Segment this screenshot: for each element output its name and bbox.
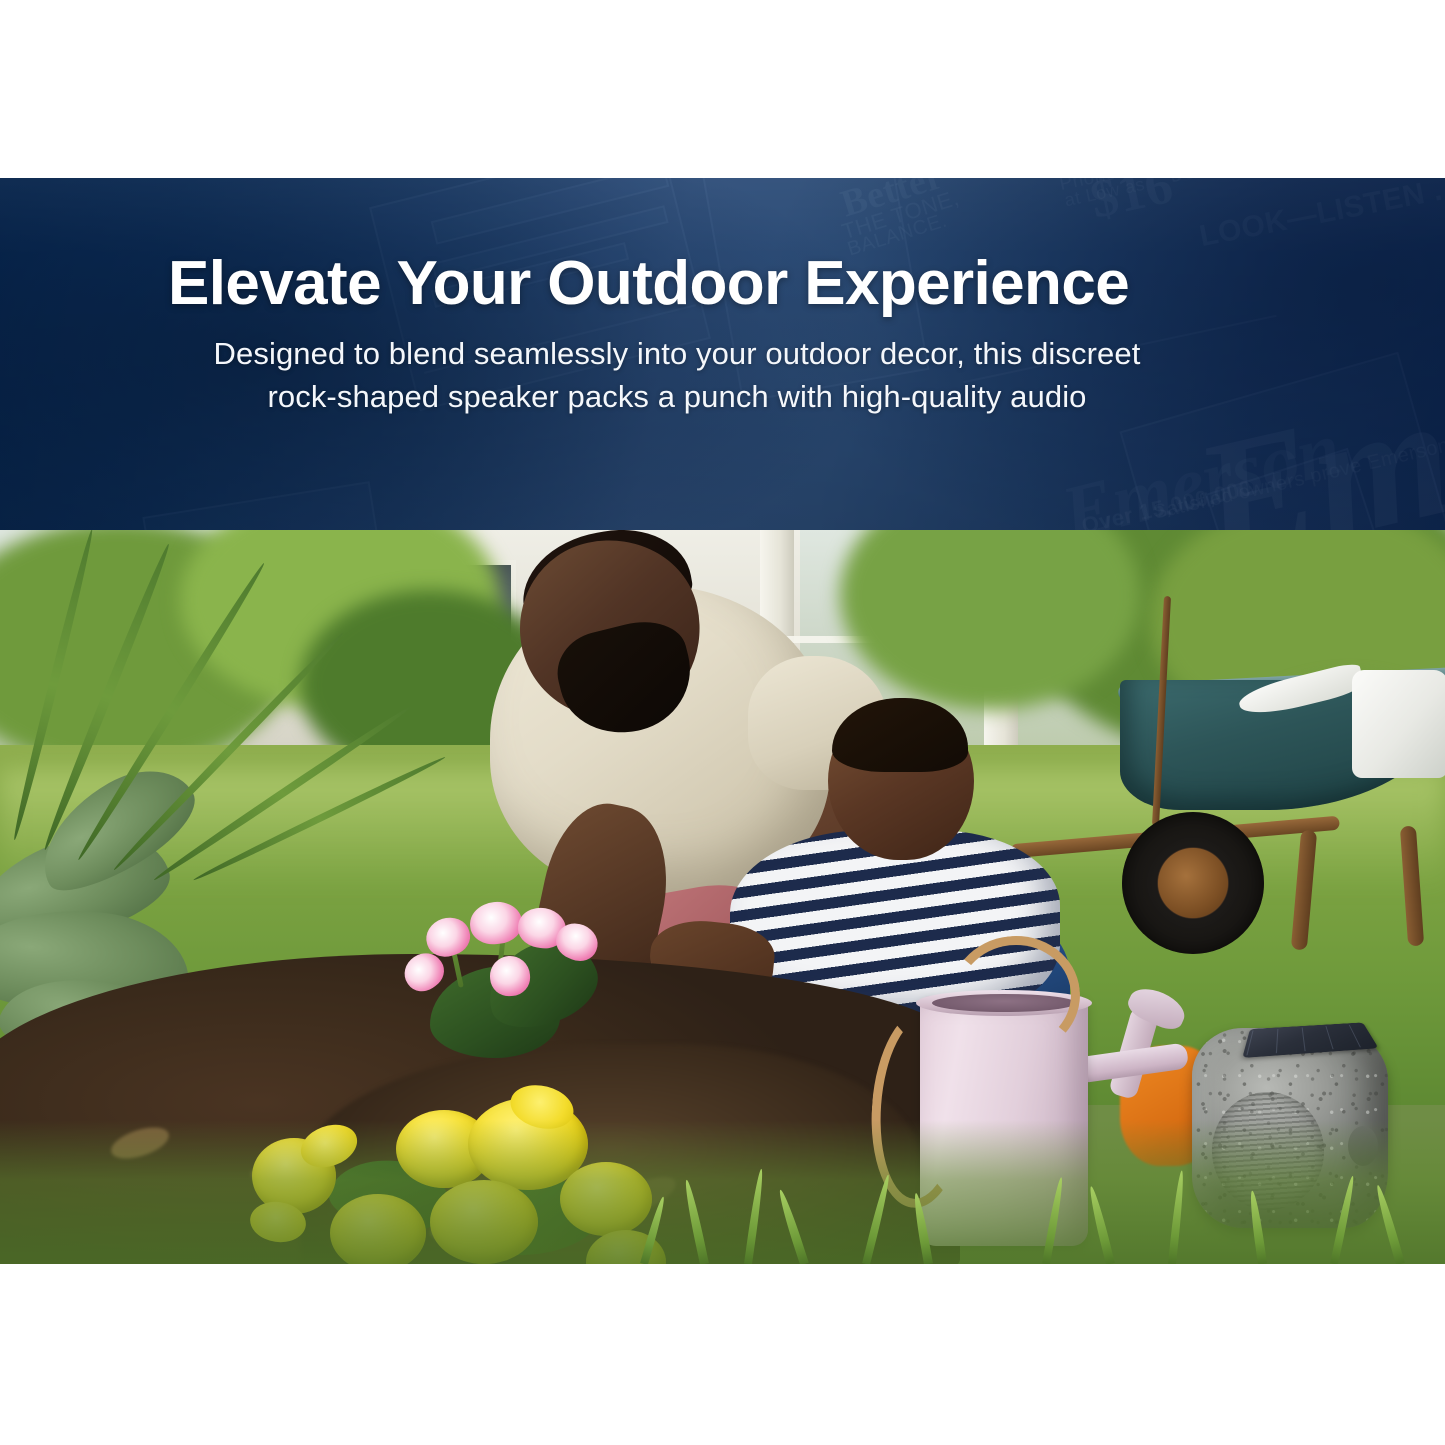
lifestyle-photograph — [0, 530, 1445, 1264]
bottom-whitespace — [0, 1264, 1445, 1445]
banner-subtitle-line-1: Designed to blend seamlessly into your o… — [122, 333, 1232, 376]
white-watering-can — [1352, 670, 1445, 778]
banner-subtitle: Designed to blend seamlessly into your o… — [122, 333, 1232, 419]
banner-headline: Elevate Your Outdoor Experience — [168, 252, 1445, 315]
top-whitespace — [0, 0, 1445, 178]
wheelbarrow-hub — [1158, 848, 1228, 918]
hero-banner: Emerson Emerson LOOK—LISTEN . . . AND YO… — [0, 178, 1445, 530]
foreground-grass — [0, 1120, 1445, 1264]
marketing-banner-page: Emerson Emerson LOOK—LISTEN . . . AND YO… — [0, 0, 1445, 1445]
banner-subtitle-line-2: rock-shaped speaker packs a punch with h… — [122, 376, 1232, 419]
banner-text-block: Elevate Your Outdoor Experience Designed… — [0, 178, 1445, 530]
